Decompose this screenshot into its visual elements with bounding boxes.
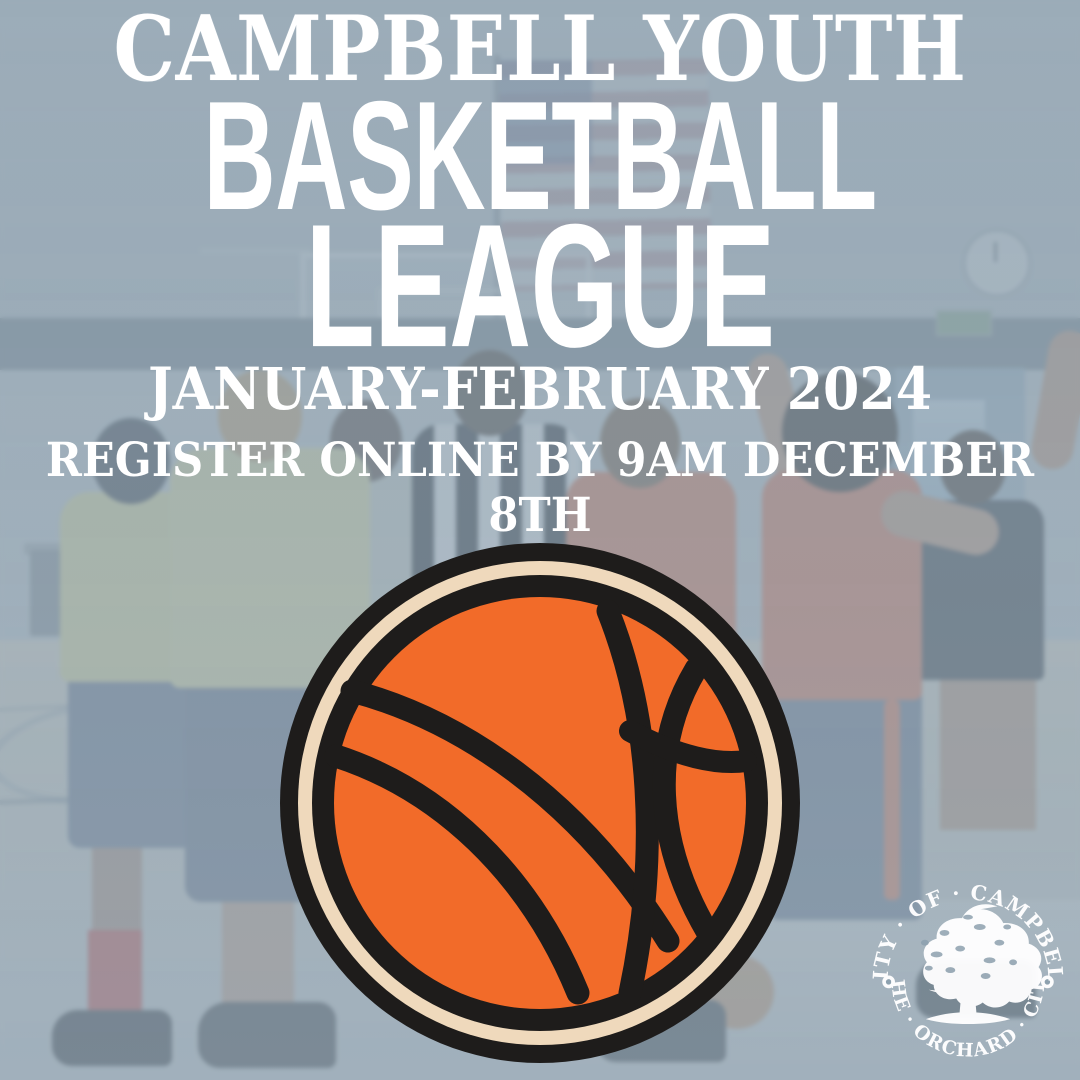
registration-deadline: REGISTER ONLINE BY 9AM DECEMBER 8TH — [43, 433, 1037, 543]
basketball-icon — [278, 541, 802, 1065]
season-dates: JANUARY-FEBRUARY 2024 — [54, 355, 1026, 423]
poster-canvas: CAMPBELL YOUTH BASKETBALL LEAGUE JANUARY… — [0, 0, 1080, 1080]
headline-line-3: LEAGUE — [184, 203, 897, 371]
headline-block: CAMPBELL YOUTH BASKETBALL LEAGUE JANUARY… — [0, 0, 1080, 543]
city-of-campbell-logo: CITY · OF · CAMPBELL THE · ORCHARD · CIT… — [870, 878, 1066, 1074]
